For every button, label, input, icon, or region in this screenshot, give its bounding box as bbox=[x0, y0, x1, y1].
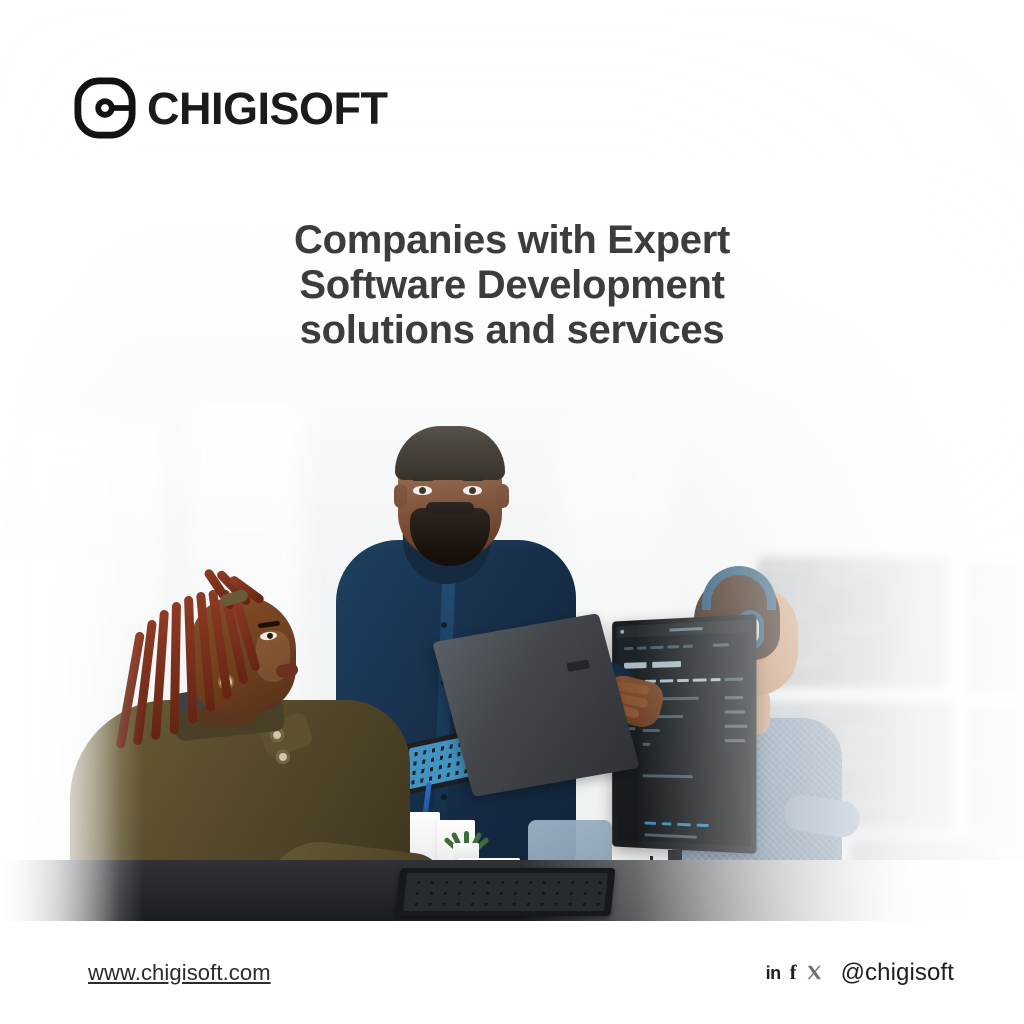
man-ear bbox=[394, 484, 407, 508]
social-handle[interactable]: @chigisoft bbox=[841, 959, 954, 987]
marketing-poster: CHIGISOFT Companies with Expert Software… bbox=[0, 0, 1024, 1024]
background-monitor bbox=[968, 564, 1024, 692]
monitor-screen bbox=[617, 620, 752, 847]
chigisoft-circle-mark bbox=[74, 77, 136, 139]
auburn-braids bbox=[126, 570, 266, 750]
brand-logo[interactable]: CHIGISOFT bbox=[74, 77, 388, 139]
headphones-icon bbox=[702, 566, 776, 610]
logo-wordmark: CHIGISOFT bbox=[147, 86, 388, 131]
website-url-link[interactable]: www.chigisoft.com bbox=[88, 960, 271, 986]
man-ear bbox=[496, 484, 509, 508]
monitor-bezel bbox=[612, 614, 756, 854]
linkedin-icon[interactable]: in bbox=[766, 964, 781, 982]
facebook-icon[interactable]: f bbox=[790, 962, 797, 983]
page-title: Companies with Expert Software Developme… bbox=[0, 218, 1024, 352]
footer-bar: www.chigisoft.com in f @chigisoft bbox=[0, 921, 1024, 1024]
x-twitter-icon[interactable] bbox=[806, 964, 823, 981]
headline-line-2: Software Development bbox=[0, 263, 1024, 308]
external-keyboard bbox=[395, 868, 615, 916]
headline-line-1: Companies with Expert bbox=[0, 218, 1024, 263]
headline-line-3: solutions and services bbox=[0, 308, 1024, 353]
man-hair bbox=[395, 426, 505, 480]
social-links: in f @chigisoft bbox=[766, 959, 954, 987]
